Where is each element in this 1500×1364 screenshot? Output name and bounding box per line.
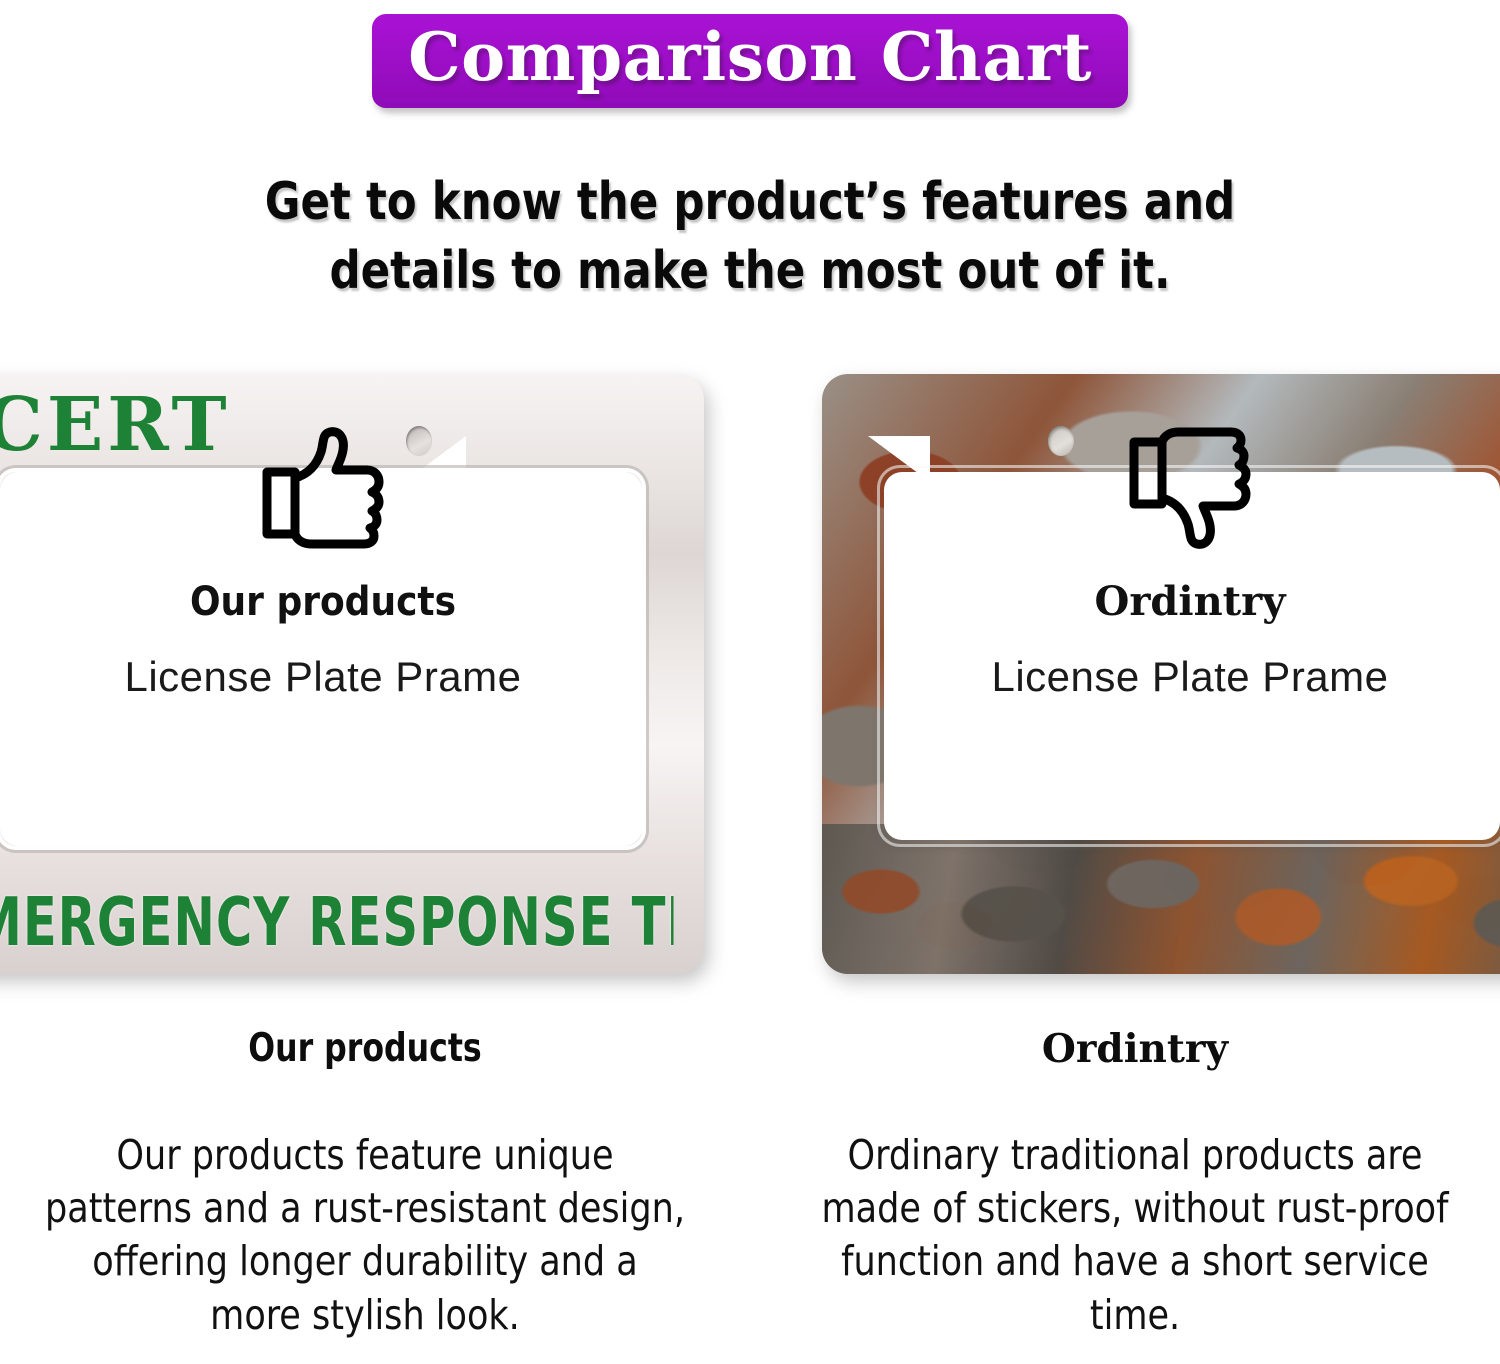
subtitle-line-2: details to make the most out of it. xyxy=(53,237,1448,306)
description-column-ordintry: Ordintry Ordinary traditional products a… xyxy=(790,1028,1480,1342)
rust-bottom-band xyxy=(822,824,1500,974)
column-heading: Our products xyxy=(55,1028,676,1071)
comparison-descriptions: Our products Our products feature unique… xyxy=(0,1028,1500,1364)
product-sublabel: License Plate Prame xyxy=(0,654,704,700)
product-sublabel: License Plate Prame xyxy=(822,654,1500,700)
page-title: Comparison Chart xyxy=(408,21,1092,95)
title-banner-container: Comparison Chart xyxy=(0,14,1500,108)
subtitle-line-1: Get to know the product’s features and xyxy=(53,168,1448,237)
column-heading: Ordintry xyxy=(790,1028,1480,1071)
plate-bottom-text: MERGENCY RESPONSE TEAM xyxy=(0,889,674,956)
column-body: Our products feature unique patterns and… xyxy=(37,1129,693,1342)
product-panel-ordintry: Ordintry License Plate Prame xyxy=(822,374,1500,974)
product-label: Ordintry xyxy=(822,580,1500,624)
panel-content-right: Ordintry License Plate Prame xyxy=(822,426,1500,700)
column-body: Ordinary traditional products are made o… xyxy=(807,1129,1463,1342)
thumbs-up-icon xyxy=(259,426,387,550)
panel-content-left: Our products License Plate Prame xyxy=(0,426,704,700)
thumbs-down-icon xyxy=(1126,426,1254,550)
comparison-panels: CERT MERGENCY RESPONSE TEAM Our products… xyxy=(0,374,1500,974)
subtitle: Get to know the product’s features and d… xyxy=(53,168,1448,305)
description-column-our-products: Our products Our products feature unique… xyxy=(20,1028,710,1342)
product-panel-our-products: CERT MERGENCY RESPONSE TEAM Our products… xyxy=(0,374,704,974)
product-label: Our products xyxy=(0,580,704,624)
title-banner: Comparison Chart xyxy=(372,14,1128,108)
